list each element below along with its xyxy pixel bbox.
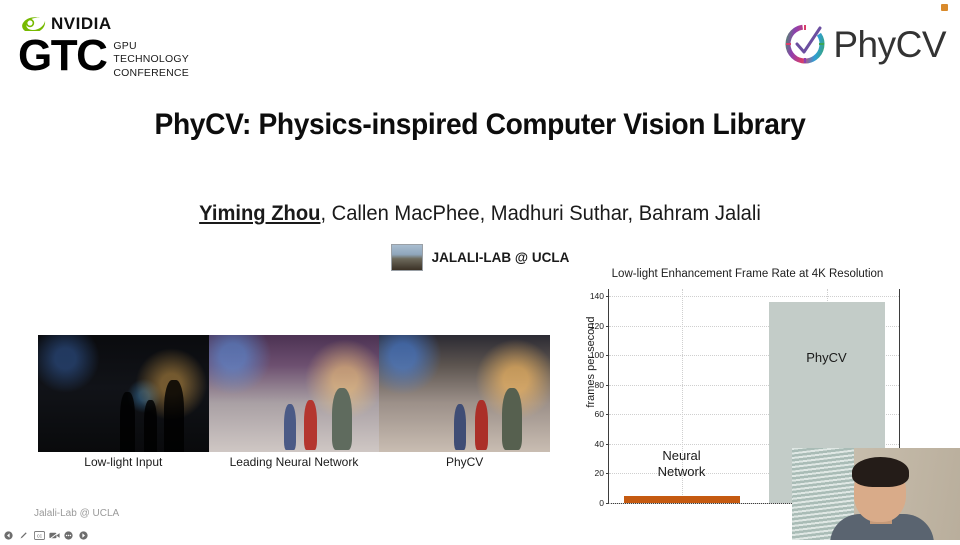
chart-y-tick-7: 140 <box>590 291 609 301</box>
presenter-hair <box>852 457 909 487</box>
phycv-circle-icon <box>779 18 831 70</box>
chart-y-tick-2: 40 <box>595 439 609 449</box>
presenter-webcam-video[interactable] <box>792 448 960 540</box>
chart-bar-label-1: PhyCV <box>769 350 885 366</box>
chart-y-tick-4: 80 <box>595 380 609 390</box>
gtc-wordmark: GTC <box>18 35 106 77</box>
phycv-wordmark: PhyCV <box>833 26 946 63</box>
image-phycv-output <box>379 335 550 452</box>
camera-off-icon[interactable] <box>49 527 58 536</box>
coauthor-list: , Callen MacPhee, Madhuri Suthar, Bahram… <box>320 202 760 225</box>
chart-title: Low-light Enhancement Frame Rate at 4K R… <box>585 268 910 280</box>
caption-neural-network: Leading Neural Network <box>209 455 380 469</box>
gtc-logo-row: GTC GPU TECHNOLOGY CONFERENCE <box>18 35 268 80</box>
phycv-brand-logo: PhyCV <box>779 18 946 70</box>
chart-y-tick-0: 0 <box>599 498 609 508</box>
chart-y-tick-5: 100 <box>590 350 609 360</box>
comparison-image-strip <box>38 335 550 452</box>
svg-text:cc: cc <box>37 533 43 539</box>
author-list: Yiming Zhou, Callen MacPhee, Madhuri Sut… <box>19 202 941 226</box>
nvidia-gtc-logo: NVIDIA GTC GPU TECHNOLOGY CONFERENCE <box>18 13 268 75</box>
presenting-author: Yiming Zhou <box>199 202 320 225</box>
comparison-captions: Low-light Input Leading Neural Network P… <box>38 455 550 469</box>
previous-slide-icon[interactable] <box>4 527 13 536</box>
nvidia-logo-row: NVIDIA <box>20 13 268 33</box>
player-control-bar[interactable]: cc <box>4 527 88 536</box>
more-options-icon[interactable] <box>64 527 73 536</box>
chart-y-tick-1: 20 <box>595 468 609 478</box>
caption-phycv: PhyCV <box>379 455 550 469</box>
image-neural-network-output <box>209 335 380 452</box>
affiliation-label: JALALI-LAB @ UCLA <box>432 250 570 265</box>
gtc-subtitle: GPU TECHNOLOGY CONFERENCE <box>113 35 189 80</box>
chart-gridline <box>609 296 899 297</box>
affiliation-row: JALALI-LAB @ UCLA <box>0 244 960 271</box>
lab-photo-icon <box>391 244 423 271</box>
pen-tool-icon[interactable] <box>19 527 28 536</box>
chart-y-tick-6: 120 <box>590 321 609 331</box>
caption-low-light-input: Low-light Input <box>38 455 209 469</box>
chart-bar-label-0: NeuralNetwork <box>624 448 740 481</box>
recording-indicator <box>941 4 948 11</box>
chart-bar-neural-network <box>624 496 740 503</box>
image-low-light-input <box>38 335 209 452</box>
page-title: PhyCV: Physics-inspired Computer Vision … <box>29 108 931 142</box>
presentation-slide: NVIDIA GTC GPU TECHNOLOGY CONFERENCE <box>0 0 960 540</box>
next-slide-icon[interactable] <box>79 527 88 536</box>
chart-y-tick-3: 60 <box>595 409 609 419</box>
closed-caption-icon[interactable]: cc <box>34 527 43 536</box>
gtc-subtitle-line-1: GPU <box>113 40 189 53</box>
gtc-subtitle-line-3: CONFERENCE <box>113 67 189 80</box>
slide-footer: Jalali-Lab @ UCLA <box>34 508 119 519</box>
nvidia-wordmark: NVIDIA <box>51 15 112 32</box>
nvidia-eye-icon <box>20 15 46 31</box>
gtc-subtitle-line-2: TECHNOLOGY <box>113 53 189 66</box>
